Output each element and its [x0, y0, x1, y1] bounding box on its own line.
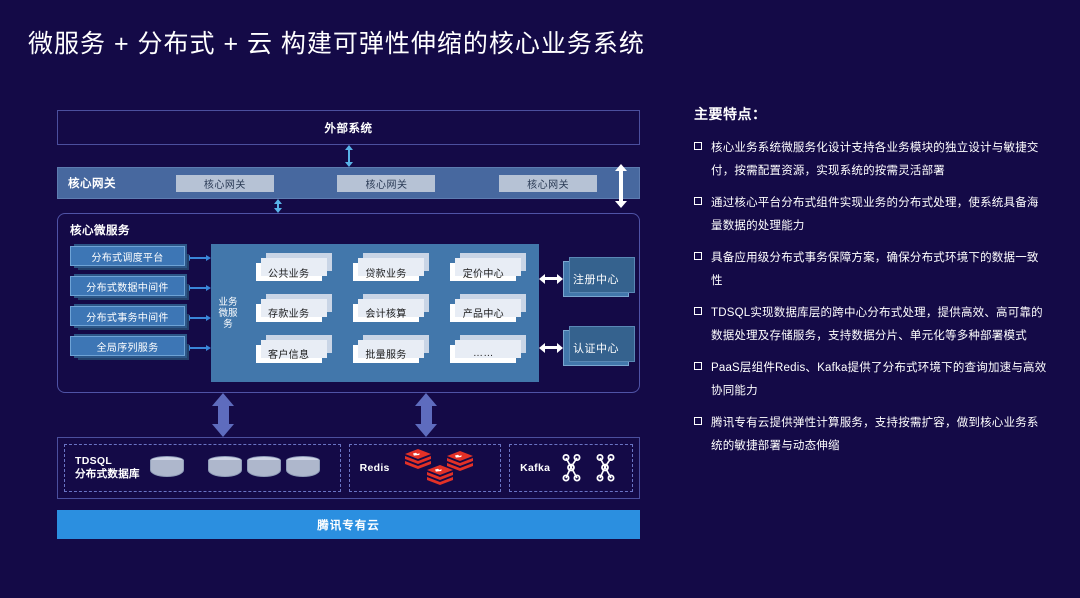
core-gateway-chip-list: 核心网关 核心网关 核心网关 — [144, 175, 629, 192]
platform-component-list: 分布式调度平台 分布式数据中间件 分布式事务中间件 全局序列服务 — [70, 244, 185, 366]
storage-layer: TDSQL 分布式数据库 Redis — [57, 437, 640, 499]
business-card[interactable]: 会计核算 — [353, 304, 419, 322]
double-arrow-horizontal-icon — [185, 338, 211, 358]
double-arrow-vertical-icon — [273, 199, 283, 213]
tencent-cloud-label: 腾讯专有云 — [317, 517, 380, 533]
square-bullet-icon — [694, 307, 702, 315]
auth-center-box[interactable]: 认证中心 — [563, 330, 629, 366]
kafka-cell: Kafka — [509, 444, 633, 492]
redis-cube-icon — [426, 464, 454, 488]
tencent-cloud-bar: 腾讯专有云 — [57, 510, 640, 539]
platform-item-scheduler[interactable]: 分布式调度平台 — [70, 246, 185, 266]
architecture-diagram: 外部系统 核心网关 核心网关 核心网关 核心网关 核心微服务 分布式调度平台 — [57, 110, 640, 540]
kafka-node-icon-group — [560, 453, 616, 483]
square-bullet-icon — [694, 417, 702, 425]
external-systems-box: 外部系统 — [57, 110, 640, 145]
platform-connector-arrows — [185, 244, 211, 368]
business-card[interactable]: 公共业务 — [256, 263, 322, 281]
square-bullet-icon — [694, 142, 702, 150]
service-center-list: 注册中心 认证中心 — [539, 244, 629, 382]
double-arrow-horizontal-icon — [185, 308, 211, 328]
core-to-storage-arrow-row — [57, 393, 640, 437]
business-card[interactable]: 存款业务 — [256, 304, 322, 322]
big-double-arrow-icon — [212, 393, 234, 437]
business-card[interactable]: 客户信息 — [256, 345, 322, 363]
business-card[interactable]: 贷款业务 — [353, 263, 419, 281]
database-cylinder-icon — [286, 456, 320, 481]
platform-item-data-middleware[interactable]: 分布式数据中间件 — [70, 276, 185, 296]
gateway-to-core-arrow-row — [57, 199, 640, 213]
key-point-text: 通过核心平台分布式组件实现业务的分布式处理，使系统具备海量数据的处理能力 — [711, 192, 1050, 238]
core-gateway-bar: 核心网关 核心网关 核心网关 核心网关 — [57, 167, 640, 199]
key-point-item: TDSQL实现数据库层的跨中心分布式处理，提供高效、高可靠的数据处理及存储服务，… — [694, 302, 1050, 348]
gateway-chip: 核心网关 — [499, 175, 597, 192]
database-cylinder-icon — [247, 456, 281, 481]
database-cylinder-icon-group — [150, 456, 330, 481]
double-arrow-horizontal-icon — [539, 274, 563, 284]
double-arrow-horizontal-icon — [539, 343, 563, 353]
tdsql-label-line2: 分布式数据库 — [75, 468, 140, 481]
business-card-more[interactable]: …… — [450, 345, 516, 363]
key-point-text: 腾讯专有云提供弹性计算服务，支持按需扩容，做到核心业务系统的敏捷部署与动态伸缩 — [711, 412, 1050, 458]
key-point-text: 核心业务系统微服务化设计支持各业务模块的独立设计与敏捷交付，按需配置资源，实现系… — [711, 137, 1050, 183]
registry-center-box[interactable]: 注册中心 — [563, 261, 629, 297]
double-arrow-vertical-icon — [344, 145, 354, 167]
gateway-to-registry-arrow-icon — [615, 164, 627, 208]
redis-cell: Redis — [349, 444, 502, 492]
business-card[interactable]: 产品中心 — [450, 304, 516, 322]
platform-item-transaction-middleware[interactable]: 分布式事务中间件 — [70, 306, 185, 326]
key-point-item: 腾讯专有云提供弹性计算服务，支持按需扩容，做到核心业务系统的敏捷部署与动态伸缩 — [694, 412, 1050, 458]
business-card[interactable]: 批量服务 — [353, 345, 419, 363]
square-bullet-icon — [694, 197, 702, 205]
key-point-item: 核心业务系统微服务化设计支持各业务模块的独立设计与敏捷交付，按需配置资源，实现系… — [694, 137, 1050, 183]
key-points-panel: 主要特点： 核心业务系统微服务化设计支持各业务模块的独立设计与敏捷交付，按需配置… — [694, 104, 1050, 467]
double-arrow-horizontal-icon — [185, 278, 211, 298]
tdsql-label: TDSQL 分布式数据库 — [75, 455, 140, 481]
tdsql-cell: TDSQL 分布式数据库 — [64, 444, 341, 492]
core-gateway-title: 核心网关 — [68, 175, 144, 191]
big-double-arrow-icon — [415, 393, 437, 437]
gateway-chip: 核心网关 — [337, 175, 435, 192]
square-bullet-icon — [694, 362, 702, 370]
gateway-chip: 核心网关 — [176, 175, 274, 192]
double-arrow-horizontal-icon — [185, 248, 211, 268]
business-card-grid: 公共业务 贷款业务 定价中心 存款业务 会计核算 产品中心 客户信息 批量服务 … — [239, 252, 533, 374]
key-point-text: PaaS层组件Redis、Kafka提供了分布式环境下的查询加速与高效协同能力 — [711, 357, 1050, 403]
key-point-item: 具备应用级分布式事务保障方案，确保分布式环境下的数据一致性 — [694, 247, 1050, 293]
key-points-title: 主要特点： — [694, 104, 1050, 124]
kafka-label: Kafka — [520, 462, 550, 475]
kafka-node-icon — [594, 453, 616, 483]
redis-cube-icon-group — [400, 447, 478, 489]
database-cylinder-icon — [150, 456, 184, 481]
key-point-text: TDSQL实现数据库层的跨中心分布式处理，提供高效、高可靠的数据处理及存储服务，… — [711, 302, 1050, 348]
tdsql-label-line1: TDSQL — [75, 455, 140, 468]
core-microservice-title: 核心微服务 — [70, 222, 629, 238]
key-point-item: PaaS层组件Redis、Kafka提供了分布式环境下的查询加速与高效协同能力 — [694, 357, 1050, 403]
business-microservice-box: 业务微服务 公共业务 贷款业务 定价中心 存款业务 会计核算 产品中心 客户信息… — [211, 244, 539, 382]
external-systems-label: 外部系统 — [325, 120, 373, 136]
business-microservice-label: 业务微服务 — [217, 252, 239, 374]
key-point-text: 具备应用级分布式事务保障方案，确保分布式环境下的数据一致性 — [711, 247, 1050, 293]
external-to-gateway-arrow-row — [57, 145, 640, 167]
platform-item-global-sequence[interactable]: 全局序列服务 — [70, 336, 185, 356]
core-microservice-panel: 核心微服务 分布式调度平台 分布式数据中间件 分布式事务中间件 全局序列服务 业… — [57, 213, 640, 393]
key-point-item: 通过核心平台分布式组件实现业务的分布式处理，使系统具备海量数据的处理能力 — [694, 192, 1050, 238]
business-card[interactable]: 定价中心 — [450, 263, 516, 281]
redis-label: Redis — [360, 462, 390, 475]
page-title: 微服务 + 分布式 + 云 构建可弹性伸缩的核心业务系统 — [28, 24, 645, 60]
kafka-node-icon — [560, 453, 582, 483]
database-cylinder-icon — [208, 456, 242, 481]
square-bullet-icon — [694, 252, 702, 260]
